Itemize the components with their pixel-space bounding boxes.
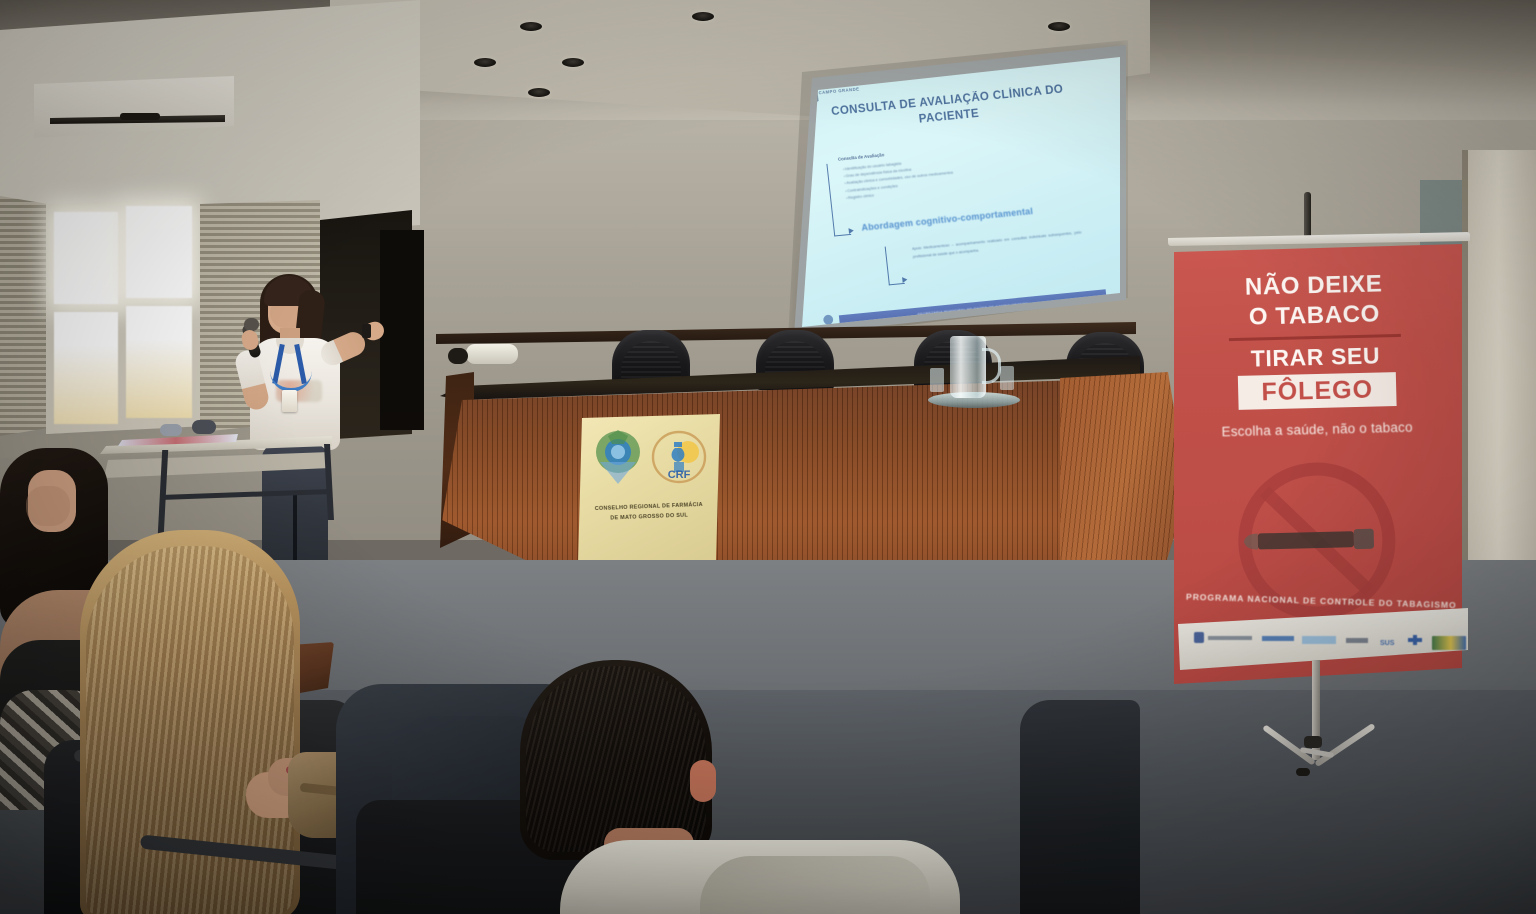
governo-federal-logo [1432, 636, 1466, 650]
air-conditioner-knob [120, 113, 160, 120]
window-pane [54, 312, 118, 424]
plaque-text: CONSELHO REGIONAL DE FARMÁCIA DE MATO GR… [582, 499, 717, 524]
slide-title: CONSULTA DE AVALIAÇÃO CLÍNICA DO PACIENT… [822, 82, 1074, 137]
attendee-man-shirt-shading [700, 856, 930, 914]
tripod-foot [1296, 768, 1310, 776]
rolled-paper [466, 344, 518, 364]
crf-ms-logo: CRF [650, 430, 708, 488]
auditorium-presentation-photo: CAMPO GRANDE SESAU SECRETARIA MUNICIPAL … [0, 0, 1536, 914]
banner-line-4: FÔLEGO [1261, 375, 1373, 407]
crf-ms-plaque: CRF CONSELHO REGIONAL DE FARMÁCIA DE MAT… [578, 414, 720, 564]
tripod-hub [1304, 736, 1322, 748]
slide-arrow-icon-secondary [902, 277, 908, 283]
ceiling-spotlight [474, 58, 496, 67]
inca-logo [1262, 636, 1294, 641]
projected-slide: CAMPO GRANDE SESAU SECRETARIA MUNICIPAL … [794, 45, 1126, 335]
attendee-right-foreground [1020, 700, 1140, 914]
slide-highlight-text: Abordagem cognitivo-comportamental [861, 206, 1034, 233]
banner-tagline: Escolha a saúde, não o tabaco [1174, 418, 1461, 440]
banner-top-pole [1304, 192, 1311, 238]
window-pane [126, 306, 192, 418]
attendee-man-ear [690, 760, 716, 802]
ceiling-spotlight [528, 88, 550, 97]
partner-logo [1302, 636, 1336, 644]
svg-text:CRF: CRF [668, 469, 691, 481]
water-pitcher [950, 336, 986, 398]
window-pane [54, 212, 118, 304]
ministerio-da-saude-logo [1194, 632, 1204, 643]
partner-logo [1346, 638, 1368, 643]
microphone-head-icon [244, 318, 259, 331]
object-on-side-table [192, 420, 216, 434]
attendee-man-hair-texture [526, 666, 706, 852]
slide-arrow-icon [848, 228, 854, 234]
banner-line-3: TIRAR SEU [1174, 341, 1460, 375]
slide-subheading: Consulta de Avaliação [838, 152, 885, 162]
ministerio-da-saude-logo-text [1208, 636, 1252, 640]
drinking-glass [930, 368, 944, 392]
banner-line-2: O TABACO [1174, 299, 1459, 334]
ceiling-spotlight [520, 22, 542, 31]
dark-object-on-table [448, 348, 468, 364]
presenter-id-badge [282, 390, 297, 412]
banner-divider [1229, 334, 1401, 341]
object-on-side-table [160, 424, 182, 436]
sus-logo: SUS [1378, 634, 1424, 648]
slide-note-text: Apoio Medicamentoso – acompanhamento rea… [912, 229, 1083, 261]
presentation-clicker [362, 324, 371, 338]
window-pane [126, 206, 192, 298]
ceiling-spotlight [692, 12, 714, 21]
drinking-glass [1000, 366, 1014, 390]
ceiling-spotlight [1048, 22, 1070, 31]
attendee-face-shading [26, 486, 70, 526]
window-shutter-left [0, 196, 48, 436]
ceiling-spotlight [562, 58, 584, 67]
brasao-da-republica-icon [594, 428, 642, 486]
svg-text:SUS: SUS [1380, 640, 1395, 647]
banner-line-1: NÃO DEIXE [1174, 269, 1458, 304]
banner-highlight-box: FÔLEGO [1238, 372, 1397, 410]
